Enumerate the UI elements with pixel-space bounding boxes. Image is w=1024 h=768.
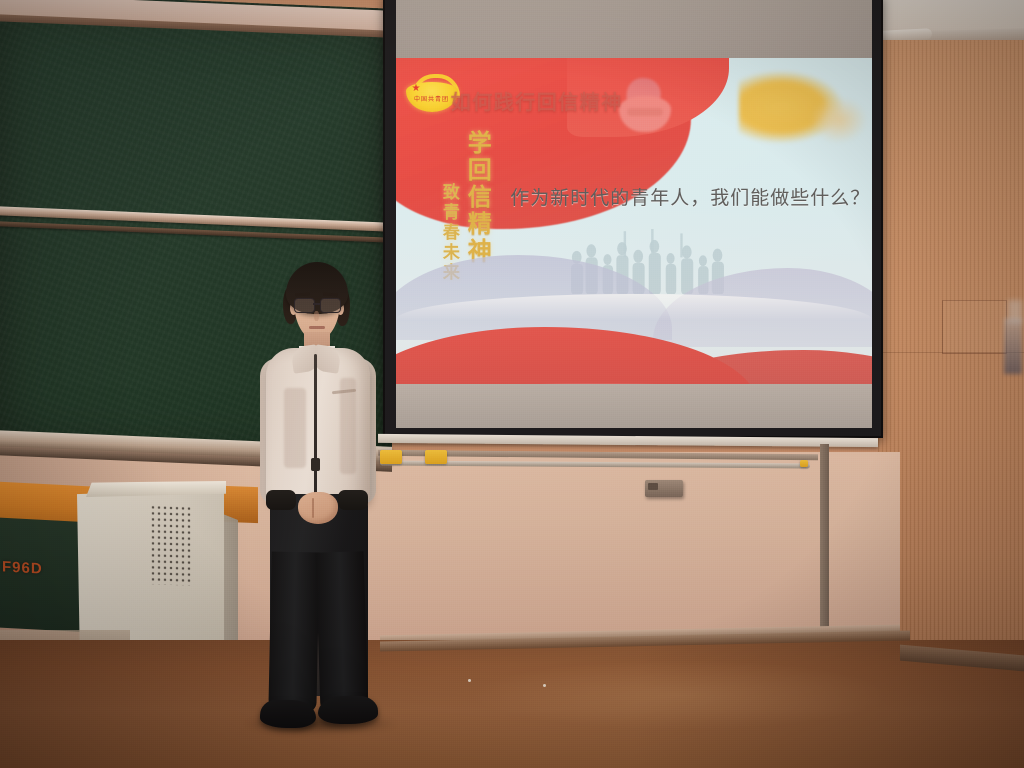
slide-question-text: 作为新时代的青年人，我们能做些什么？ bbox=[510, 183, 870, 210]
eyeglasses bbox=[293, 298, 341, 312]
sleeve-cuff-right bbox=[338, 490, 368, 510]
wall-mounted-sensor[interactable] bbox=[645, 480, 683, 497]
hand-crease bbox=[312, 498, 314, 518]
slide-vertical-slogan-main: 学回信精神 bbox=[460, 130, 495, 265]
wall-access-panel bbox=[942, 300, 1007, 354]
glasses-lens-left bbox=[294, 298, 315, 313]
shoe-right bbox=[318, 696, 378, 724]
leg-left bbox=[268, 552, 319, 713]
classroom-photo-scene: ★ 中国共青团 如何践行回信精神 致青春未来 学回信精神 作为新时代的青年人，我… bbox=[0, 0, 1024, 768]
emblem-star-icon: ★ bbox=[412, 84, 421, 93]
projection-screen-surface[interactable]: ★ 中国共青团 如何践行回信精神 致青春未来 学回信精神 作为新时代的青年人，我… bbox=[396, 0, 872, 428]
yellow-marker-tag[interactable] bbox=[425, 450, 447, 464]
leg-right bbox=[315, 551, 368, 712]
communist-youth-league-emblem: ★ 中国共青团 bbox=[406, 74, 458, 114]
wall-seam-line bbox=[878, 352, 1024, 353]
standing-presenter[interactable] bbox=[252, 262, 380, 748]
podium-red-label: F96D bbox=[2, 558, 62, 579]
slide-gold-glow-secondary bbox=[810, 97, 867, 143]
emblem-label: 中国共青团 bbox=[413, 94, 451, 103]
floor-speck bbox=[543, 684, 546, 687]
jacket-zipper-pull bbox=[311, 458, 320, 471]
presentation-slide: ★ 中国共青团 如何践行回信精神 致青春未来 学回信精神 作为新时代的青年人，我… bbox=[396, 58, 872, 386]
glasses-bridge bbox=[313, 303, 321, 305]
jacket-zipper bbox=[314, 354, 317, 504]
wall-object-lower bbox=[1004, 318, 1022, 374]
slide-title: 如何践行回信精神 bbox=[451, 86, 623, 115]
yellow-marker-tag[interactable] bbox=[380, 450, 402, 464]
sleeve-cuff-left bbox=[266, 490, 296, 510]
floor-reflection bbox=[470, 660, 890, 730]
nose bbox=[314, 311, 319, 321]
screen-support-post bbox=[820, 444, 829, 656]
yellow-marker-tag[interactable] bbox=[800, 460, 808, 467]
jacket-fold bbox=[284, 388, 306, 468]
watermark-band bbox=[627, 108, 663, 116]
speaker-grille bbox=[150, 504, 192, 585]
shoe-left bbox=[260, 700, 316, 728]
clasped-hands bbox=[298, 492, 338, 524]
projector-letterbox-bottom bbox=[396, 384, 872, 428]
faint-emblem-watermark bbox=[615, 78, 675, 136]
mouth bbox=[309, 326, 325, 329]
glasses-lens-right bbox=[320, 298, 341, 313]
zip-jacket bbox=[266, 348, 370, 504]
floor-speck bbox=[468, 679, 471, 682]
projector-letterbox-top bbox=[396, 0, 872, 60]
